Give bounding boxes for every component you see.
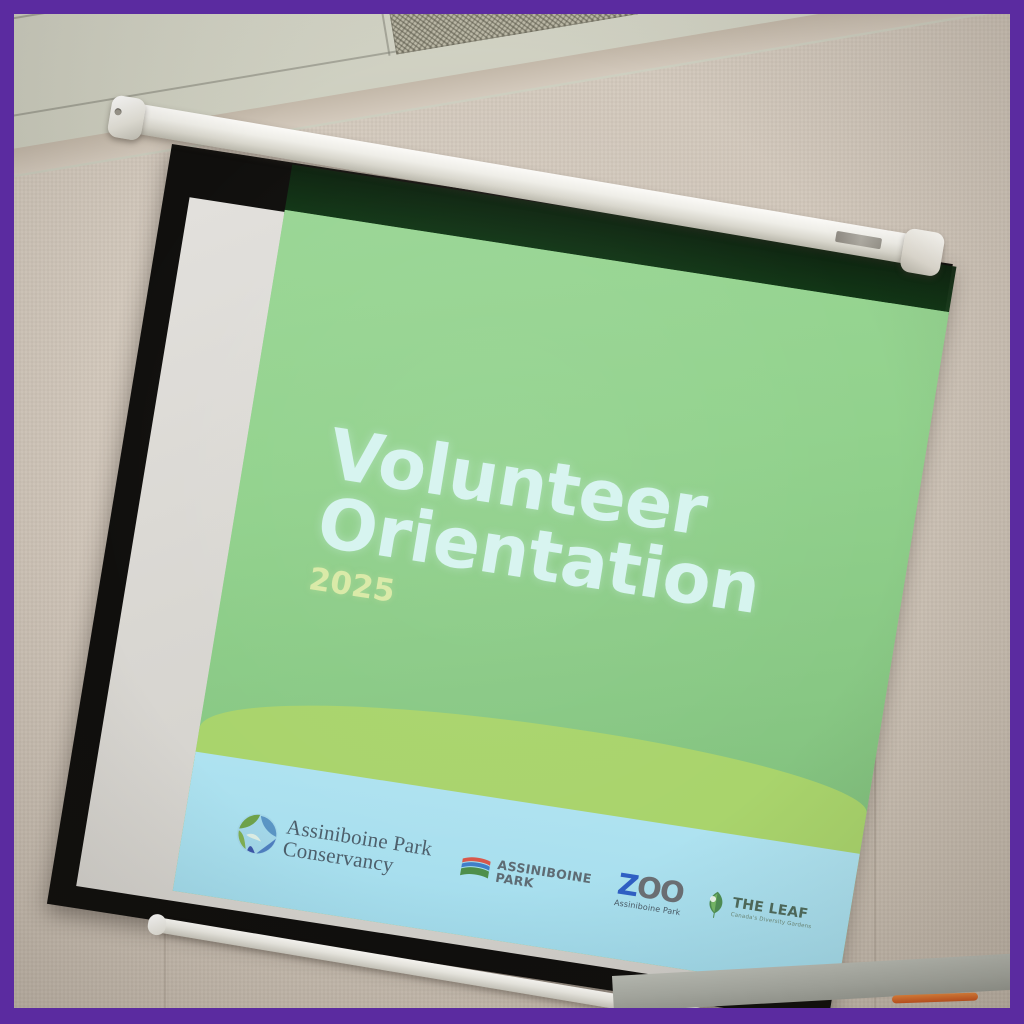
roller-brand-label	[835, 231, 882, 250]
ceiling-grid-line	[372, 14, 390, 56]
leaf-icon	[702, 889, 728, 920]
projected-slide: Volunteer Orientation 2025	[173, 210, 949, 993]
park-wordmark: ASSINIBOINE PARK	[494, 858, 592, 899]
assiniboine-park-zoo-logo: ZOO Assiniboine Park	[613, 872, 685, 917]
frame-left	[0, 0, 14, 1024]
conservancy-wordmark: Assiniboine Park Conservancy	[281, 817, 434, 882]
projection-screen[interactable]: Volunteer Orientation 2025	[110, 86, 950, 956]
roller-end-cap-right	[899, 227, 946, 277]
roller-screw	[114, 108, 122, 116]
frame-top	[0, 0, 1024, 14]
frame-bottom	[0, 1008, 1024, 1024]
zoo-wordmark: ZOO Assiniboine Park	[613, 872, 685, 917]
frame-right	[1010, 0, 1024, 1024]
screen-white-surface: Volunteer Orientation 2025	[76, 197, 925, 999]
room-scene: Volunteer Orientation 2025	[14, 14, 1010, 1008]
the-leaf-logo: THE LEAF Canada's Diversity Gardens	[702, 889, 815, 933]
assiniboine-park-logo: ASSINIBOINE PARK	[459, 852, 593, 899]
photo-canvas: Volunteer Orientation 2025	[0, 0, 1024, 1024]
leaf-wordmark: THE LEAF Canada's Diversity Gardens	[730, 896, 814, 930]
roller-end-cap-left	[106, 94, 147, 141]
screen-black-border: Volunteer Orientation 2025	[47, 144, 953, 1008]
park-stripes-icon	[459, 853, 493, 883]
conservancy-circle-icon	[232, 809, 283, 859]
